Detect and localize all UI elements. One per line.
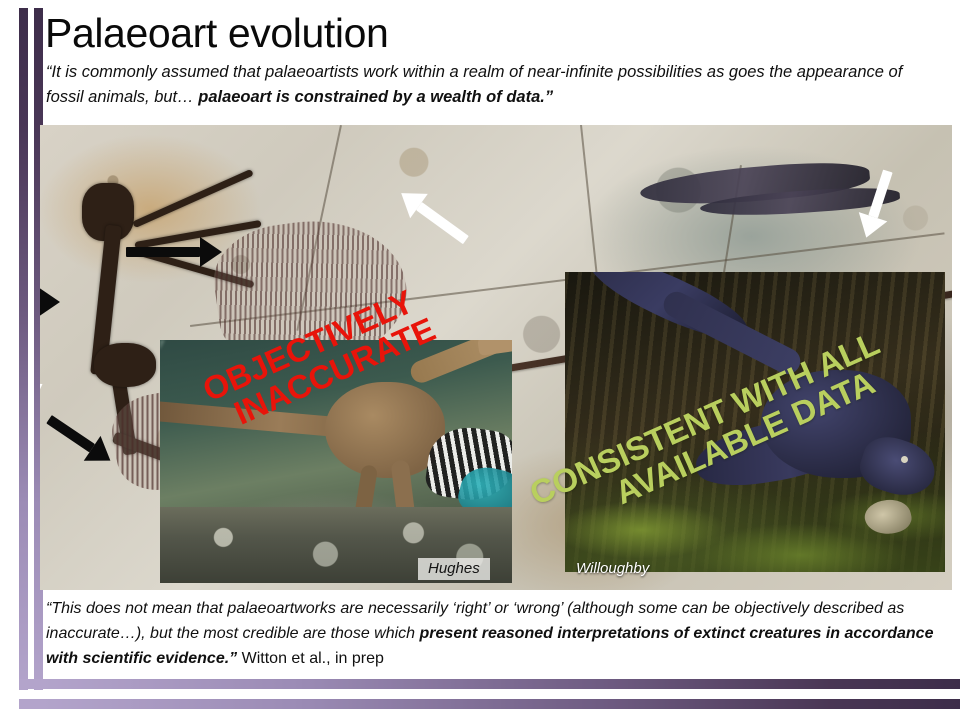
left-rail-outer [19, 8, 28, 690]
header-quote-emphasis: palaeoart is constrained by a wealth of … [198, 88, 553, 106]
page-title: Palaeoart evolution [45, 13, 388, 54]
left-inset-artwork [160, 340, 512, 583]
footer-citation: Witton et al., in prep [237, 650, 384, 667]
microraptor-eye [901, 456, 908, 463]
rail-foot-upper [19, 679, 43, 689]
rail-foot-lower [19, 699, 43, 709]
bone-pelvis [94, 343, 156, 387]
credit-willoughby: Willoughby [572, 558, 655, 580]
bottom-rail-lower [43, 699, 960, 709]
right-inset-artwork [565, 272, 945, 572]
header-quote: “It is commonly assumed that palaeoartis… [46, 60, 926, 110]
bone-forelimb-1 [132, 169, 254, 228]
bottom-rail-upper [43, 679, 960, 689]
footer-quote: “This does not mean that palaeoartworks … [46, 596, 936, 671]
credit-hughes: Hughes [418, 558, 490, 580]
